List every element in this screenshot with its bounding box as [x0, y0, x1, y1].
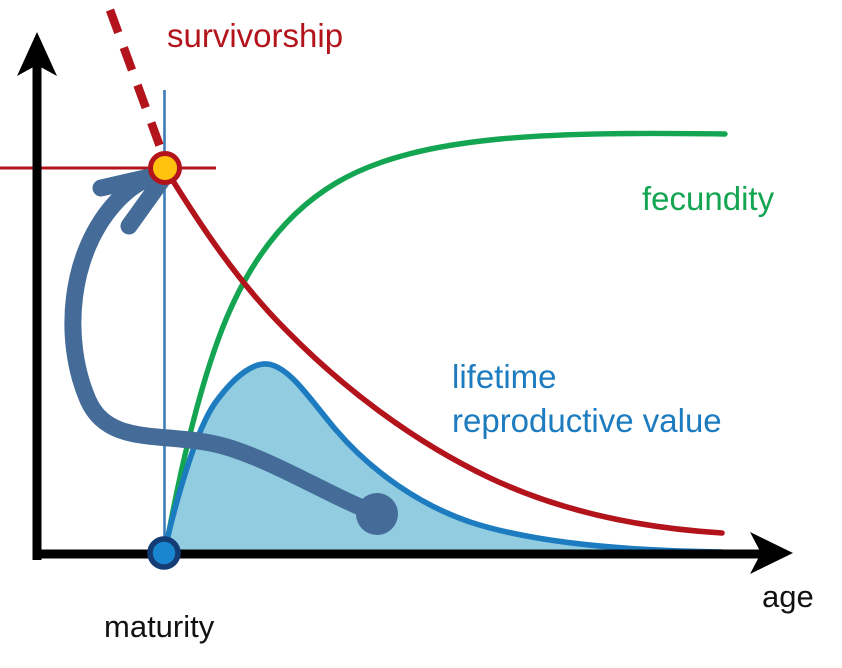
- survivorship-label: survivorship: [167, 17, 343, 54]
- reproductive-value-diagram: survivorship fecundity lifetime reproduc…: [0, 0, 842, 668]
- maturity-label: maturity: [104, 609, 215, 644]
- survivorship-at-maturity-point[interactable]: [151, 154, 180, 183]
- age-axis-label: age: [762, 579, 814, 614]
- survivorship-dashed-extension: [110, 10, 166, 163]
- arrow-tail-dot: [356, 493, 398, 535]
- lifetime-reproductive-value-label-line1: lifetime: [452, 358, 557, 395]
- figure-canvas: survivorship fecundity lifetime reproduc…: [0, 0, 842, 668]
- fecundity-label: fecundity: [642, 180, 775, 217]
- lifetime-reproductive-value-label-line2: reproductive value: [452, 402, 722, 439]
- maturity-point[interactable]: [150, 539, 178, 567]
